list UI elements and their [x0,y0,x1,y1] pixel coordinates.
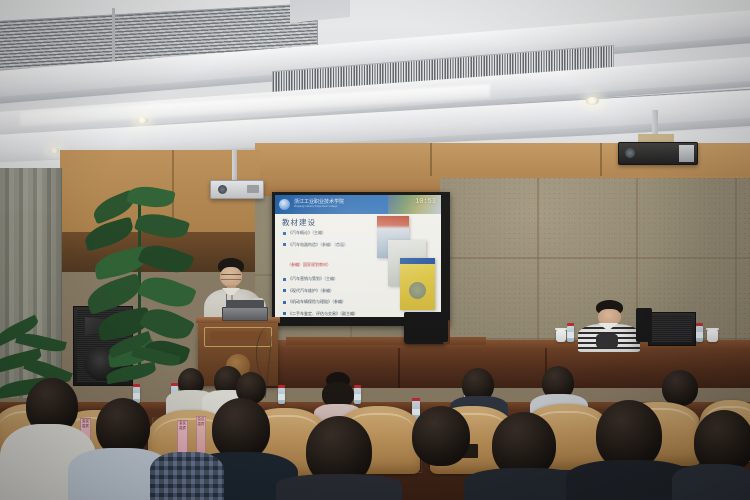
projector-left [210,180,264,199]
projector-right [618,142,698,165]
cup-lid [555,328,567,330]
audience-plaid-shirt [150,452,224,500]
bottle-cap [696,323,703,326]
projection-screen-frame: 浙江工业职业技术学院 Zhejiang Industry Polytechnic… [272,192,450,326]
audience-head-front-3 [212,398,270,460]
bottle-cap [567,323,574,326]
plant-leaf [134,208,190,243]
projector-left-mount-pole [232,150,237,182]
bottle-cap [412,398,420,401]
stage-table-left-top [286,337,486,345]
chair-label-text: 会议嘉宾 [197,417,205,426]
projector-left-lens [218,185,227,194]
water-bottle-row-3 [278,388,285,404]
plant-leaf [82,217,136,252]
presenter-laptop-lid [226,300,264,308]
tea-cup-table-1 [556,330,566,342]
presenter-glasses-icon [221,274,241,280]
bottle-label [412,409,420,415]
bottle-cap [133,384,140,387]
cup-lid [706,328,719,330]
screen-light-wash [275,195,441,317]
chair-label-text: 会议嘉宾 [81,419,90,428]
projector-left-vent [247,185,259,193]
ceiling-vent-divider [112,8,115,64]
plant-leaf [126,182,175,211]
seated-official-arm [596,334,618,348]
projector-right-lens [625,148,635,158]
audience-body-front-8 [672,464,750,500]
bottle-cap [171,383,178,386]
presenter-laptop [222,307,268,321]
bottle-label [696,332,703,337]
audience-head-mid-6 [662,370,698,406]
chair-label-text: 会议嘉宾 [178,421,187,430]
stage-monitor-box [404,312,448,342]
tea-cup-table-2 [707,330,718,342]
bottle-label [278,394,285,399]
pa-speaker-right-grille [652,316,692,342]
water-bottle-table-1 [567,326,574,342]
audience-head-front-5 [412,406,470,466]
water-bottle-table-2 [696,326,703,342]
bottle-cap [278,385,285,388]
pa-speaker-right [648,312,696,346]
audience-body-front-4 [276,474,402,500]
downlight-2 [586,97,599,105]
seated-official-chair [636,308,652,342]
downlight-1 [137,117,148,124]
plant-frond [105,362,157,384]
projector-right-panel [679,145,694,162]
plant-leaf [137,239,194,279]
bottle-label [567,332,574,337]
lecture-hall-photo: 浙江工业职业技术学院 Zhejiang Industry Polytechnic… [0,0,750,500]
head-table-panel-seam-1 [398,348,400,388]
downlight-7 [50,148,59,154]
bottle-label [133,393,140,398]
projection-screen: 浙江工业职业技术学院 Zhejiang Industry Polytechnic… [275,195,441,317]
